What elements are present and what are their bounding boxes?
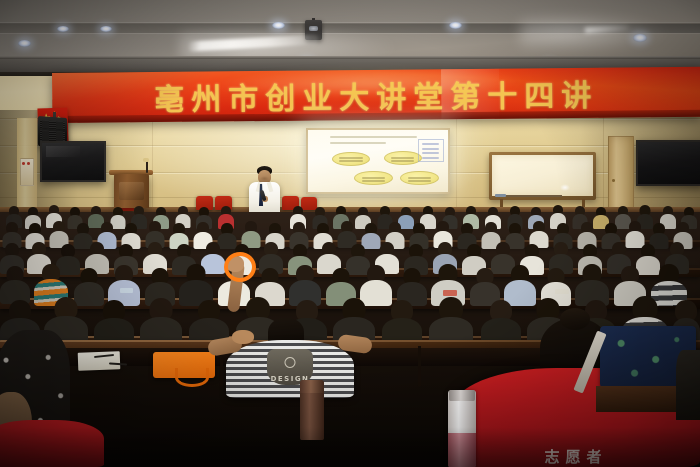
presenter [244,166,284,218]
auditorium-photo: 亳州市创业大讲堂第十四讲 [0,0,700,467]
side-door[interactable] [608,136,634,214]
lectern-nameplate [143,158,149,162]
tube-light-glow [520,14,670,52]
projection-screen-frame [306,128,450,194]
thermos-cap [449,390,475,401]
speaker-grille [40,120,64,130]
slide-sidebar-box [418,139,444,162]
slide-oval [354,171,392,185]
soffit-lip [0,56,700,59]
downlight-icon [18,40,31,47]
panel-indicator-icon [22,162,25,165]
red-folder [443,290,457,296]
panel-indicator-icon [27,162,30,165]
slide-oval [400,171,438,185]
whiteboard-surface[interactable] [492,155,593,196]
door-knob-icon[interactable] [612,179,615,182]
downlight-icon [449,22,462,29]
attendee-hand [232,330,254,344]
hair-bun [560,308,590,330]
lectern-microphone [146,161,148,173]
face-shadow [260,176,269,181]
whiteboard-tray [506,195,562,197]
whiteboard-glare [560,184,570,191]
slide-heading-line [330,142,386,144]
bag-handle [175,368,209,387]
lectern-front-panel [119,182,144,200]
downlight-icon [57,26,69,32]
event-banner: 亳州市创业大讲堂第十四讲 [52,67,700,123]
paper-sheet [555,289,569,294]
orange-handheld-object [224,252,256,282]
design-striped-shirt: DESIGN [226,340,354,398]
audience-member [140,298,182,346]
right-wall-monitor [636,140,700,186]
shirt-collar [267,182,274,193]
paper-sheet [120,288,133,293]
edge-attendee [676,350,700,420]
whiteboard-marker-tray [495,194,506,197]
audience-member [429,297,473,346]
bottom-shadow [0,427,700,467]
lectern [114,174,149,208]
audience-member [0,266,30,304]
projection-screen [308,130,448,192]
downlight-icon [100,26,112,32]
thermos-cap [300,380,324,393]
bench-divider [418,346,421,386]
slide-heading-line [330,136,417,138]
shirt-logo-icon [285,357,296,368]
slide-oval [332,152,370,166]
left-wall-monitor [40,141,106,182]
slide-oval [384,151,422,165]
